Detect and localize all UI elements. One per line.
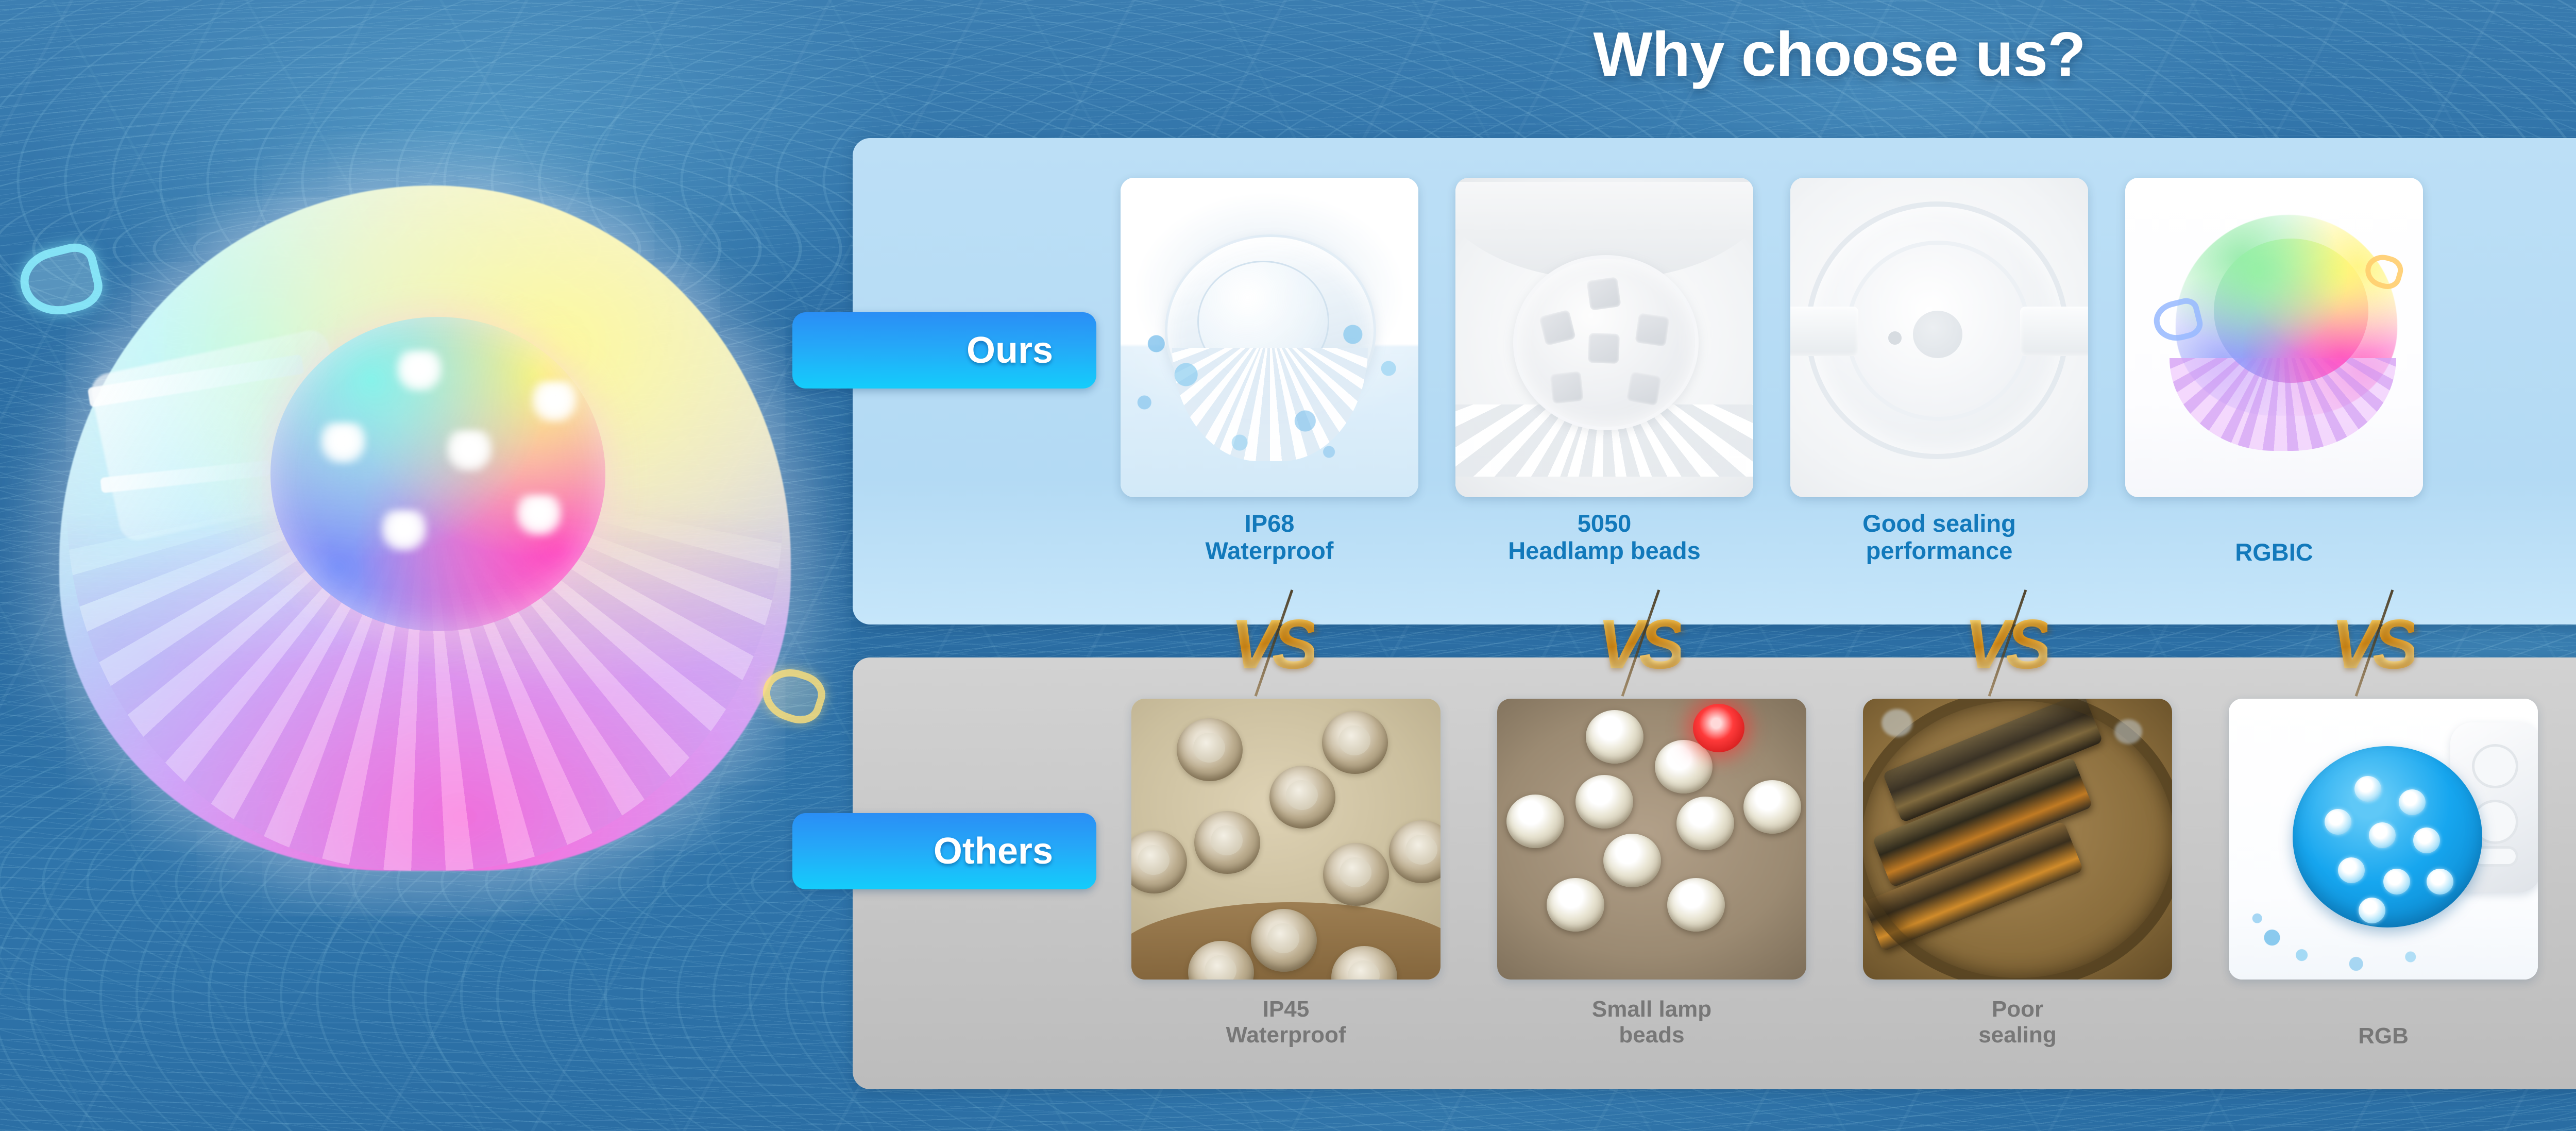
led-chip [1586,277,1621,311]
hero-product-image [10,149,845,953]
small-lamp-beads-photo [1497,699,1806,980]
led-chip [1588,333,1620,364]
rgbic-dome [2214,239,2368,383]
others-card-ip45[interactable] [1131,699,1440,980]
corroded-bulb [1269,766,1335,829]
ours-label-row: IP68 Waterproof 5050 Headlamp beads Good… [1121,510,2576,566]
corroded-bulbs-photo [1131,699,1440,980]
vs-badge-2: VS [1590,595,1688,693]
led-dot [2399,789,2426,815]
ours-card-ip68[interactable] [1121,178,1418,497]
headlamp-beads-photo [1455,178,1753,497]
ours-card-rgbic[interactable] [2125,178,2423,497]
ours-label-rgbic: RGBIC [2125,510,2423,566]
corroded-bulb [1177,718,1243,781]
corroded-bulb [1194,811,1260,874]
ours-card-row [1121,178,2576,497]
ours-card-sealing[interactable] [1790,178,2088,497]
corroded-bulb [1131,831,1187,893]
led-chip [396,350,443,392]
led-dot [2369,822,2396,848]
lamp-bead [1676,797,1734,850]
ours-label-ip68: IP68 Waterproof [1121,510,1418,566]
ours-label-beads: 5050 Headlamp beads [1455,510,1753,566]
corroded-bulb [1322,711,1388,774]
shell-light-graphic [10,149,845,953]
others-card-small-beads[interactable] [1497,699,1806,980]
led-chip [1550,371,1584,404]
vs-badge-3: VS [1957,595,2055,693]
led-dot [2325,809,2351,835]
vs-badge-4: VS [2324,595,2421,693]
others-label-row: IP45 Waterproof Small lamp beads Poor se… [1131,997,2574,1049]
others-label-small-beads: Small lamp beads [1497,997,1806,1049]
led-chip [1626,371,1662,406]
led-chip [515,495,563,536]
hanging-loop-left-icon [14,239,108,323]
corroded-bulb [1323,843,1389,906]
led-dot [2338,857,2365,883]
rgbic-shell-photo [2125,178,2423,497]
led-dot [2413,828,2440,853]
others-badge: Others [792,813,1096,889]
corrosion-spot [1882,709,1912,737]
blue-rgb-puck-photo [2229,699,2538,980]
lamp-bead [1575,775,1633,829]
lamp-bead [1743,780,1801,834]
water-splash [2247,887,2495,974]
led-chip [319,423,367,464]
corroded-bulb [1389,820,1440,883]
led-chip [1635,313,1669,347]
ip68-waterproof-photo [1121,178,1418,497]
others-label-poor-sealing: Poor sealing [1863,997,2172,1049]
remote-button [2472,744,2518,788]
corrosion-spot [2114,719,2142,744]
seal-pin [1888,331,1902,345]
page-title: Why choose us? [1273,10,2406,98]
water-splash [1121,316,1418,470]
led-chip [446,430,493,471]
seal-clip-left [1790,307,1858,356]
ours-card-beads[interactable] [1455,178,1753,497]
lamp-bead [1506,795,1564,848]
vs-badge-1: VS [1223,595,1321,693]
lamp-bead [1547,878,1604,932]
led-dot [2354,776,2381,802]
others-card-rgb[interactable] [2229,699,2538,980]
red-led-indicator [1693,704,1744,752]
corroded-batteries-photo [1863,699,2172,980]
led-chip [380,510,428,551]
ours-label-sealing: Good sealing performance [1790,510,2088,566]
ours-badge: Ours [792,312,1096,389]
others-card-row [1131,699,2574,980]
others-label-rgb: RGB [2229,997,2538,1049]
lamp-bead [1586,710,1643,764]
corroded-bulb [1251,909,1317,972]
sealing-structure-photo [1790,178,2088,497]
others-card-poor-sealing[interactable] [1863,699,2172,980]
seal-clip-right [2020,307,2088,356]
others-label-ip45: IP45 Waterproof [1131,997,1440,1049]
lamp-bead [1667,878,1725,932]
lamp-bead [1603,834,1661,887]
led-chip [531,381,578,423]
seal-hub [1913,311,1962,358]
